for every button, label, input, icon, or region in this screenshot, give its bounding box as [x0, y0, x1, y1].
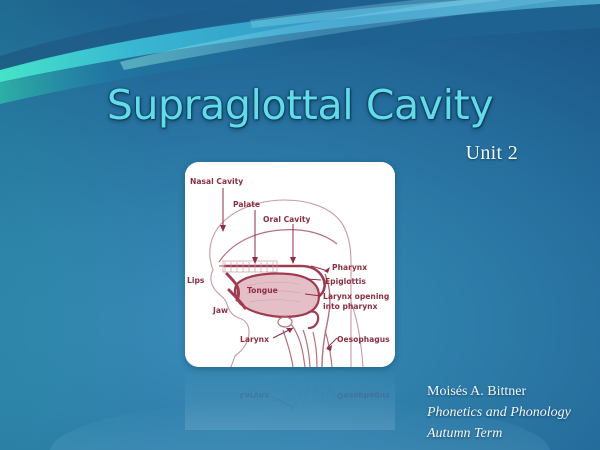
presentation-slide: Supraglottal Cavity Unit 2 [0, 0, 600, 450]
label-larynx-opening-line2: into pharynx [323, 302, 378, 311]
vocal-tract-diagram: Nasal Cavity Palate Oral Cavity Lips Ton… [185, 162, 395, 367]
label-jaw: Jaw [212, 306, 228, 315]
diagram-reflection: Larynx Oesophagus [185, 368, 395, 430]
swoosh-band-secondary [120, 0, 600, 70]
swoosh-band-thin-top [250, 0, 600, 28]
label-epiglottis: Epiglottis [325, 277, 366, 286]
label-oesophagus: Oesophagus [337, 335, 390, 344]
reflection-label-oesophagus: Oesophagus [337, 391, 390, 400]
author-name: Moisés A. Bittner [427, 381, 597, 402]
title-block: Supraglottal Cavity [0, 84, 600, 127]
reflection-label-larynx: Larynx [240, 391, 269, 400]
label-larynx: Larynx [240, 335, 269, 344]
label-nasal-cavity: Nasal Cavity [190, 177, 243, 186]
diagram-reflection-art: Larynx Oesophagus [185, 368, 395, 430]
reflection-leaders [273, 387, 337, 407]
course-name: Phonetics and Phonology [427, 402, 597, 423]
label-palate: Palate [233, 200, 260, 209]
label-larynx-opening-line1: Larynx opening [323, 292, 389, 301]
reflection-larynx-trachea [283, 368, 332, 411]
author-block: Moisés A. Bittner Phonetics and Phonolog… [427, 381, 597, 444]
diagram-card: Nasal Cavity Palate Oral Cavity Lips Ton… [185, 162, 395, 367]
label-oral-cavity: Oral Cavity [263, 215, 310, 224]
label-tongue: Tongue [247, 286, 278, 295]
slide-subtitle: Unit 2 [466, 142, 518, 165]
swoosh-band-dark-upper [0, 0, 600, 84]
page-title: Supraglottal Cavity [0, 84, 600, 127]
term-name: Autumn Term [427, 423, 597, 444]
label-lips: Lips [187, 276, 205, 285]
swoosh-band-highlight [0, 0, 600, 82]
label-pharynx: Pharynx [332, 263, 367, 272]
left-edge-tint [0, 0, 150, 450]
